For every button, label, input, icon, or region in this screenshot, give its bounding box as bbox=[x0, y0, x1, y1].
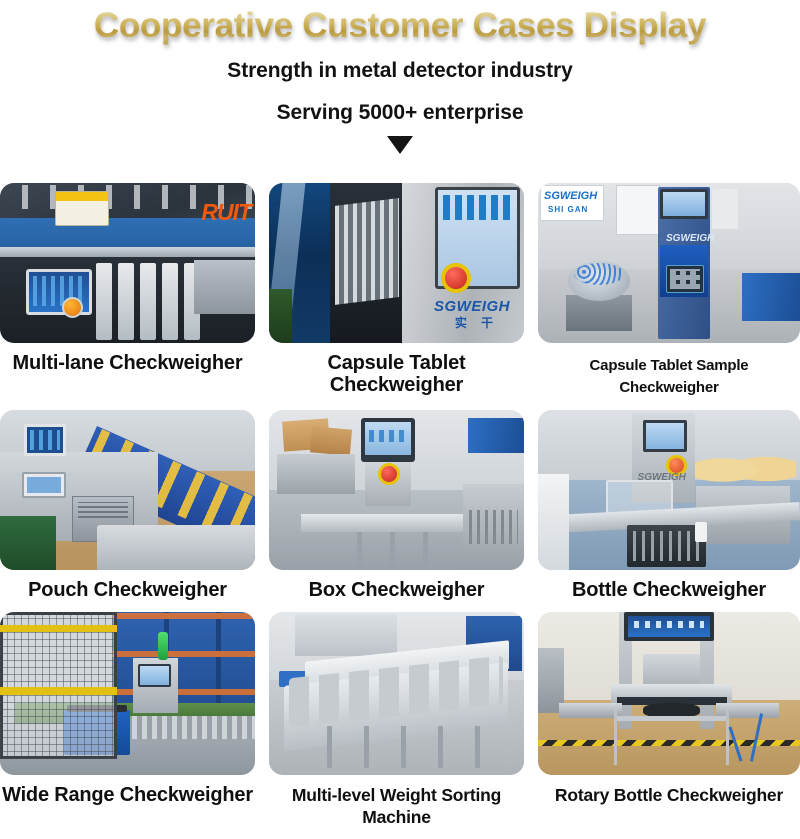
emergency-stop-icon bbox=[62, 297, 83, 318]
capsule-tablet-checkweigher-photo[interactable]: SGWEIGH 实 干 bbox=[269, 183, 524, 343]
sgweigh-machine-logo: SGWEIGH bbox=[666, 233, 714, 244]
case-card-wide-range-checkweigher[interactable]: Wide Range Checkweigher bbox=[0, 612, 255, 839]
pouch-checkweigher-photo[interactable] bbox=[0, 410, 255, 570]
case-card-multi-level-weight-sorting-machine[interactable]: Multi-level Weight Sorting Machine bbox=[269, 612, 524, 839]
emergency-stop-icon bbox=[381, 466, 397, 482]
case-caption: Capsule Tablet Sample Checkweigher bbox=[538, 343, 800, 410]
box-checkweigher-photo[interactable] bbox=[269, 410, 524, 570]
hmi-touch-panel-icon bbox=[24, 424, 66, 456]
ruit-brand-logo: RUIT bbox=[201, 199, 251, 226]
sgweigh-brand-logo: SGWEIGH bbox=[544, 190, 597, 202]
hmi-touch-panel-icon bbox=[643, 420, 687, 452]
case-caption: Bottle Checkweigher bbox=[538, 570, 800, 612]
cases-grid: RUIT Multi-lane Checkweigher bbox=[0, 183, 800, 839]
capsule-tablet-sample-checkweigher-photo[interactable]: SGWEIGH SHI GAN SGWEIGH bbox=[538, 183, 800, 343]
warning-label-icon bbox=[55, 191, 109, 226]
rotary-bottle-checkweigher-photo[interactable] bbox=[538, 612, 800, 775]
page-header: Cooperative Customer Cases Display Stren… bbox=[0, 0, 800, 160]
case-card-capsule-tablet-checkweigher[interactable]: SGWEIGH 实 干 Capsule Tablet Checkweigher bbox=[269, 183, 524, 410]
case-caption: Multi-level Weight Sorting Machine bbox=[269, 775, 524, 839]
booth-banner: SGWEIGH SHI GAN bbox=[540, 185, 604, 221]
subtitle-line-1: Strength in metal detector industry bbox=[0, 56, 800, 86]
sgweigh-brand-logo: SGWEIGH bbox=[434, 298, 510, 315]
case-caption: Capsule Tablet Checkweigher bbox=[269, 343, 524, 407]
status-tower-light-icon bbox=[158, 632, 168, 660]
hmi-touch-panel-icon bbox=[660, 189, 708, 219]
multi-level-weight-sorting-machine-photo[interactable] bbox=[269, 612, 524, 775]
cases-display-page: Cooperative Customer Cases Display Stren… bbox=[0, 0, 800, 800]
case-card-bottle-checkweigher[interactable]: SGWEIGH Bottle Checkweigher bbox=[538, 410, 800, 612]
case-caption: Wide Range Checkweigher bbox=[0, 775, 255, 817]
case-caption: Pouch Checkweigher bbox=[0, 570, 255, 612]
hmi-touch-panel-icon bbox=[624, 612, 713, 641]
case-card-rotary-bottle-checkweigher[interactable]: Rotary Bottle Checkweigher bbox=[538, 612, 800, 839]
hmi-touch-panel-icon bbox=[361, 418, 415, 462]
case-card-capsule-tablet-sample-checkweigher[interactable]: SGWEIGH SHI GAN SGWEIGH Capsule Tablet S… bbox=[538, 183, 800, 410]
wide-range-checkweigher-photo[interactable] bbox=[0, 612, 255, 775]
case-card-multi-lane-checkweigher[interactable]: RUIT Multi-lane Checkweigher bbox=[0, 183, 255, 410]
emergency-stop-icon bbox=[445, 267, 467, 289]
subtitle-line-2: Serving 5000+ enterprise bbox=[0, 98, 800, 128]
case-card-box-checkweigher[interactable]: Box Checkweigher bbox=[269, 410, 524, 612]
arrow-down-icon bbox=[387, 136, 413, 154]
case-caption: Rotary Bottle Checkweigher bbox=[538, 775, 800, 817]
weight-indicator-icon bbox=[22, 472, 66, 498]
bottle-item bbox=[695, 522, 707, 542]
emergency-stop-icon bbox=[669, 458, 684, 473]
case-card-pouch-checkweigher[interactable]: Pouch Checkweigher bbox=[0, 410, 255, 612]
arrow-down-wrap bbox=[0, 136, 800, 160]
case-caption: Multi-lane Checkweigher bbox=[0, 343, 255, 385]
carton-box bbox=[310, 426, 352, 455]
keypad-icon bbox=[666, 265, 704, 293]
bottle-checkweigher-photo[interactable]: SGWEIGH bbox=[538, 410, 800, 570]
sgweigh-brand-chinese: 实 干 bbox=[455, 314, 498, 331]
multi-lane-checkweigher-photo[interactable]: RUIT bbox=[0, 183, 255, 343]
product-bags bbox=[691, 446, 796, 494]
hmi-touch-panel-icon bbox=[138, 664, 171, 687]
page-title: Cooperative Customer Cases Display bbox=[94, 4, 706, 48]
sgweigh-brand-pinyin: SHI GAN bbox=[548, 205, 588, 214]
case-caption: Box Checkweigher bbox=[269, 570, 524, 612]
page-title-wrap: Cooperative Customer Cases Display bbox=[0, 4, 800, 48]
